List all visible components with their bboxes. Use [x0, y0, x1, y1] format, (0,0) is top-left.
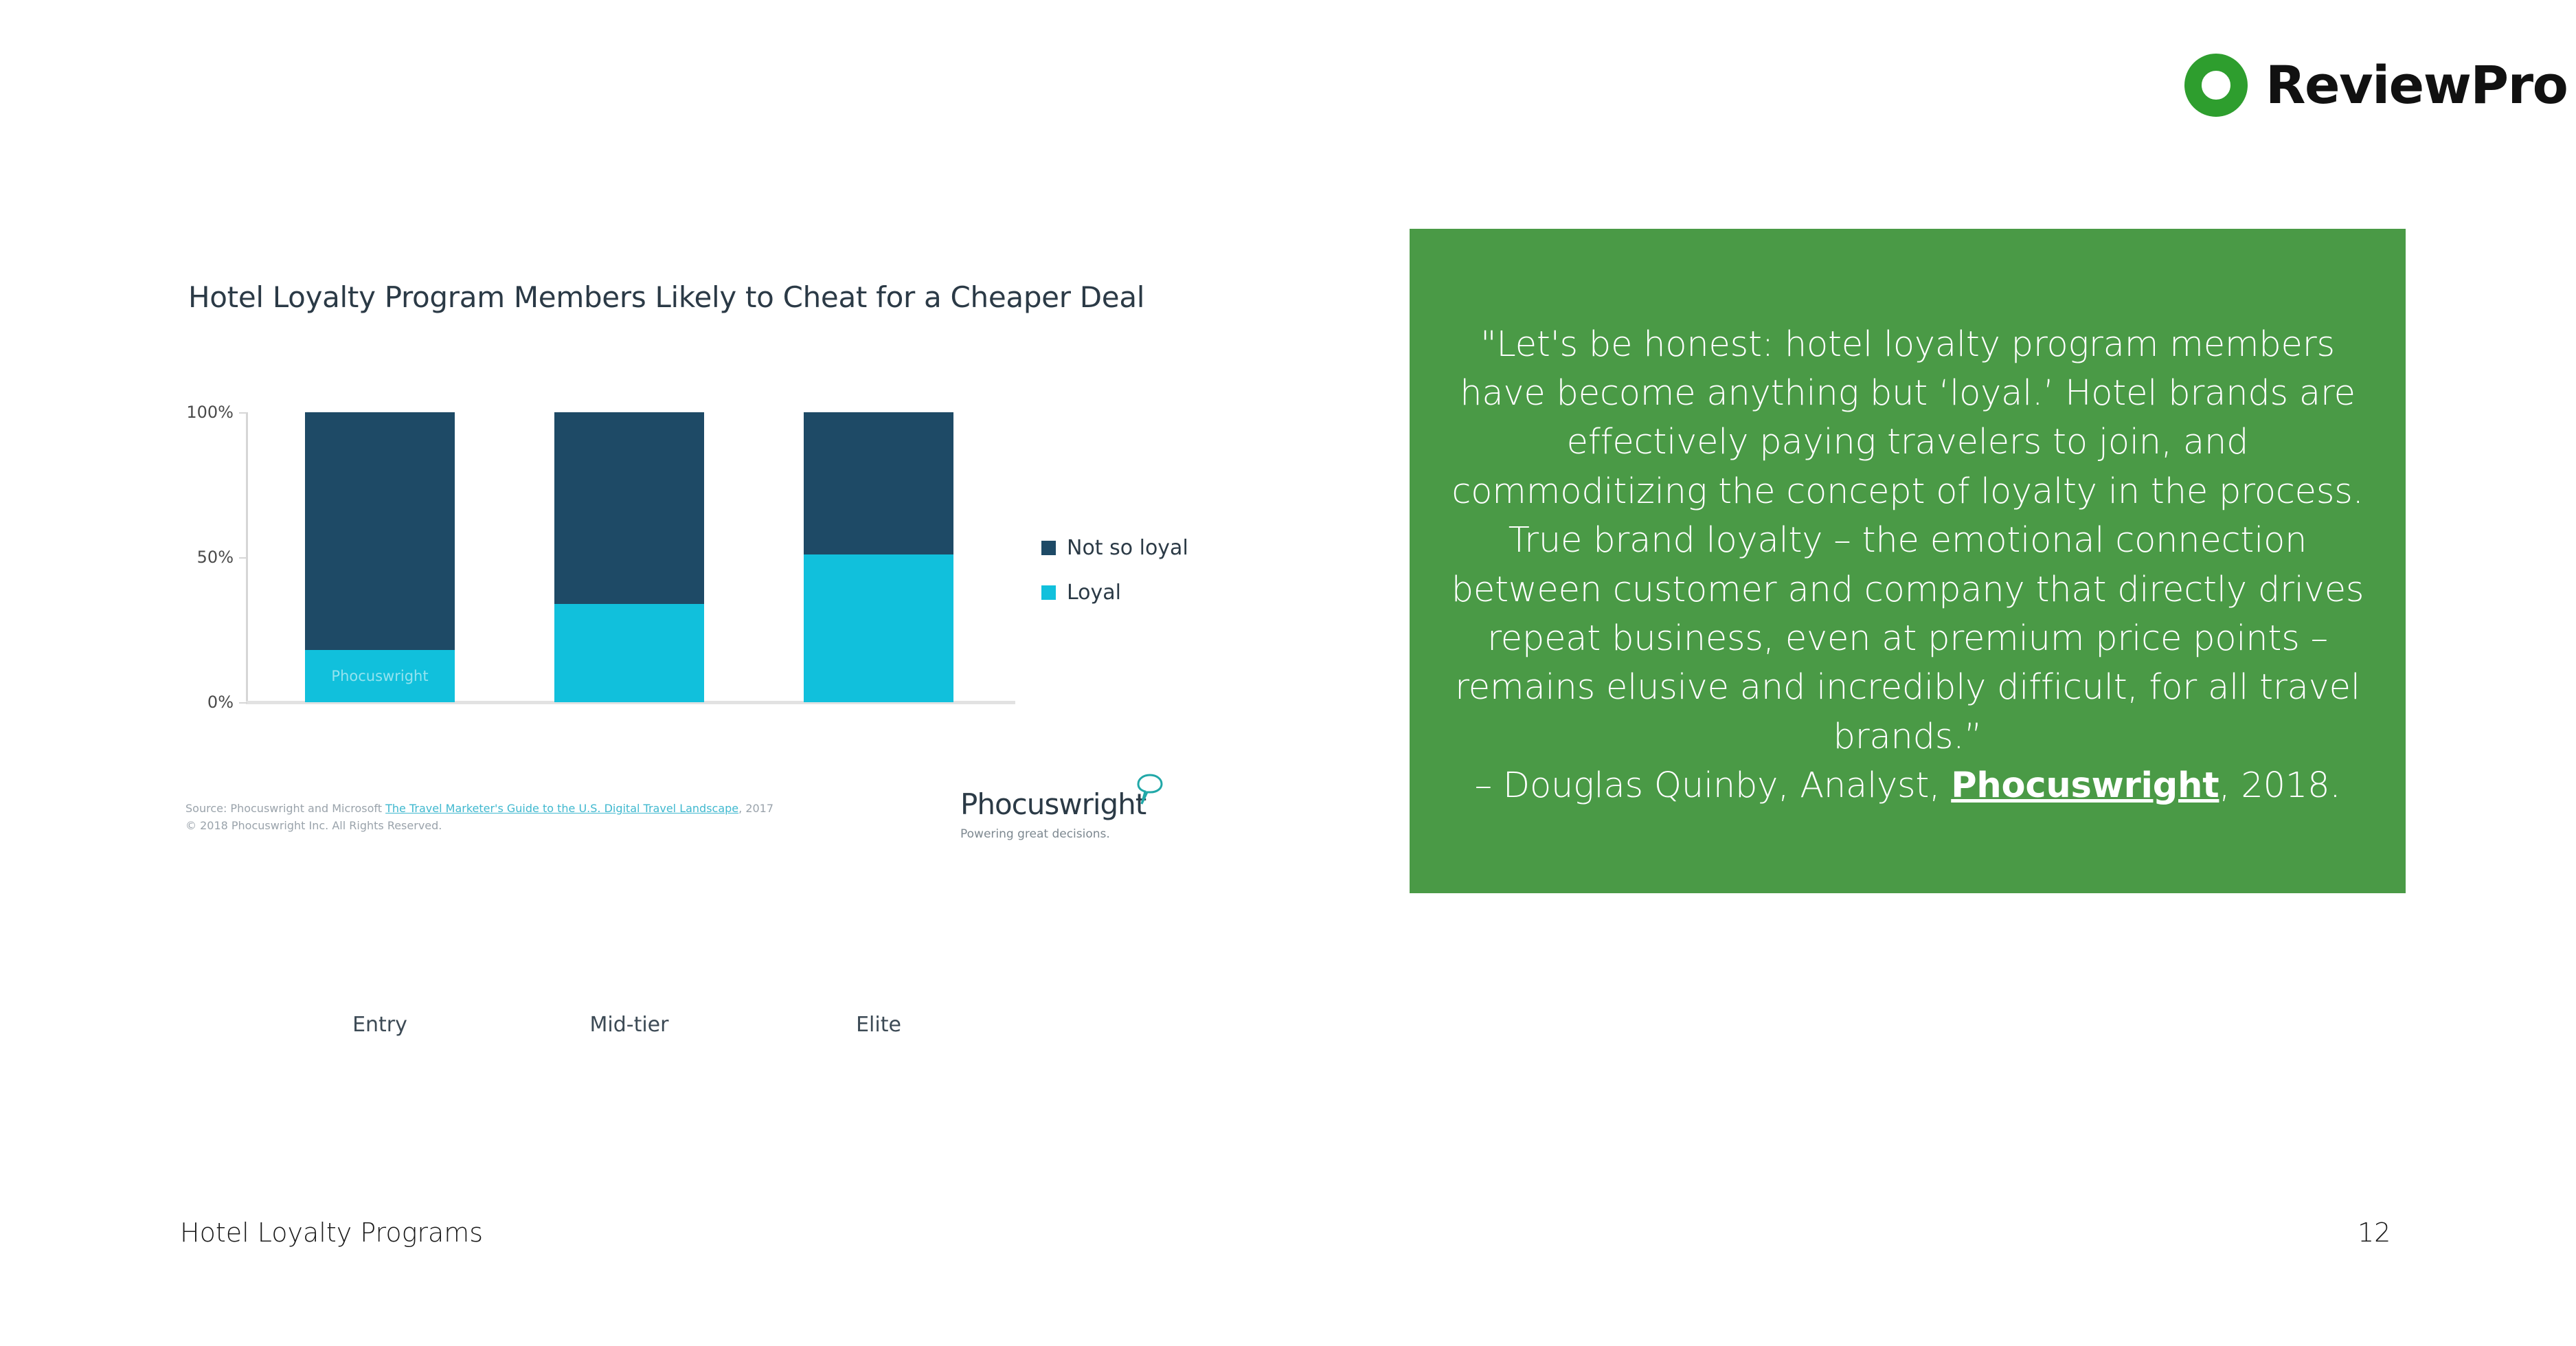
- reviewpro-ring-icon: [2184, 54, 2248, 117]
- source-report-link[interactable]: The Travel Marketer's Guide to the U.S. …: [385, 802, 738, 815]
- y-tick-50: 50%: [197, 548, 234, 567]
- phocuswright-wordmark: Phocuswright: [960, 790, 1160, 819]
- bar-segment-not-so-loyal[interactable]: [554, 412, 704, 604]
- bar-segment-loyal[interactable]: [305, 650, 455, 702]
- bar-segment-not-so-loyal[interactable]: [305, 412, 455, 650]
- attribution-source-link[interactable]: Phocuswright: [1951, 765, 2219, 806]
- source-prefix: Source: Phocuswright and Microsoft: [185, 802, 385, 815]
- legend-swatch-icon: [1041, 585, 1056, 600]
- stacked-bar-entry[interactable]: [305, 412, 455, 702]
- source-suffix: , 2017: [738, 802, 773, 815]
- y-tick-0: 0%: [207, 693, 234, 712]
- quote-panel: "Let's be honest: hotel loyalty program …: [1410, 229, 2406, 893]
- legend-label-loyal: Loyal: [1067, 581, 1121, 605]
- x-category-label-entry: Entry: [305, 1013, 455, 1037]
- x-category-label-elite: Elite: [804, 1013, 953, 1037]
- source-note-line-1: Source: Phocuswright and Microsoft The T…: [185, 800, 773, 818]
- y-tick-100: 100%: [186, 403, 234, 422]
- quote-body: "Let's be honest: hotel loyalty program …: [1447, 320, 2369, 762]
- x-category-label-mid-tier: Mid-tier: [554, 1013, 704, 1037]
- legend-swatch-icon: [1041, 541, 1056, 555]
- chart-source-note: Source: Phocuswright and Microsoft The T…: [185, 800, 773, 835]
- source-note-line-2: © 2018 Phocuswright Inc. All Rights Rese…: [185, 818, 773, 835]
- page-number: 12: [2358, 1218, 2391, 1248]
- phocuswright-speech-bubble-icon: [1136, 774, 1164, 805]
- bar-segment-not-so-loyal[interactable]: [804, 412, 953, 554]
- legend-item-loyal[interactable]: Loyal: [1041, 581, 1188, 605]
- footer-deck-title: Hotel Loyalty Programs: [180, 1218, 483, 1248]
- attribution-prefix: – Douglas Quinby, Analyst,: [1475, 765, 1952, 806]
- stacked-bar-mid-tier[interactable]: [554, 412, 704, 702]
- bar-segment-loyal[interactable]: [804, 554, 953, 702]
- y-tickmark-100: [239, 412, 247, 414]
- phocuswright-tagline: Powering great decisions.: [960, 827, 1160, 841]
- quote-attribution: – Douglas Quinby, Analyst, Phocuswright,…: [1447, 761, 2369, 810]
- legend-label-not-so-loyal: Not so loyal: [1067, 536, 1188, 560]
- legend-item-not-so-loyal[interactable]: Not so loyal: [1041, 536, 1188, 560]
- bar-segment-loyal[interactable]: [554, 604, 704, 702]
- chart-legend: Not so loyal Loyal: [1041, 536, 1188, 625]
- phocuswright-logo: Phocuswright Powering great decisions.: [960, 790, 1160, 841]
- chart-plot-area: 100% 50% 0% Phocuswright Entry Mid-tier: [246, 412, 1015, 702]
- chart-card: Hotel Loyalty Program Members Likely to …: [177, 261, 1173, 888]
- reviewpro-wordmark: ReviewPro: [2266, 59, 2567, 111]
- attribution-suffix: , 2018.: [2219, 765, 2340, 806]
- stacked-bar-elite[interactable]: [804, 412, 953, 702]
- quote-content: "Let's be honest: hotel loyalty program …: [1447, 320, 2369, 811]
- y-tickmark-0: [239, 702, 247, 704]
- reviewpro-logo: ReviewPro: [2184, 54, 2567, 117]
- y-tickmark-50: [239, 557, 247, 559]
- chart-title: Hotel Loyalty Program Members Likely to …: [188, 280, 1144, 314]
